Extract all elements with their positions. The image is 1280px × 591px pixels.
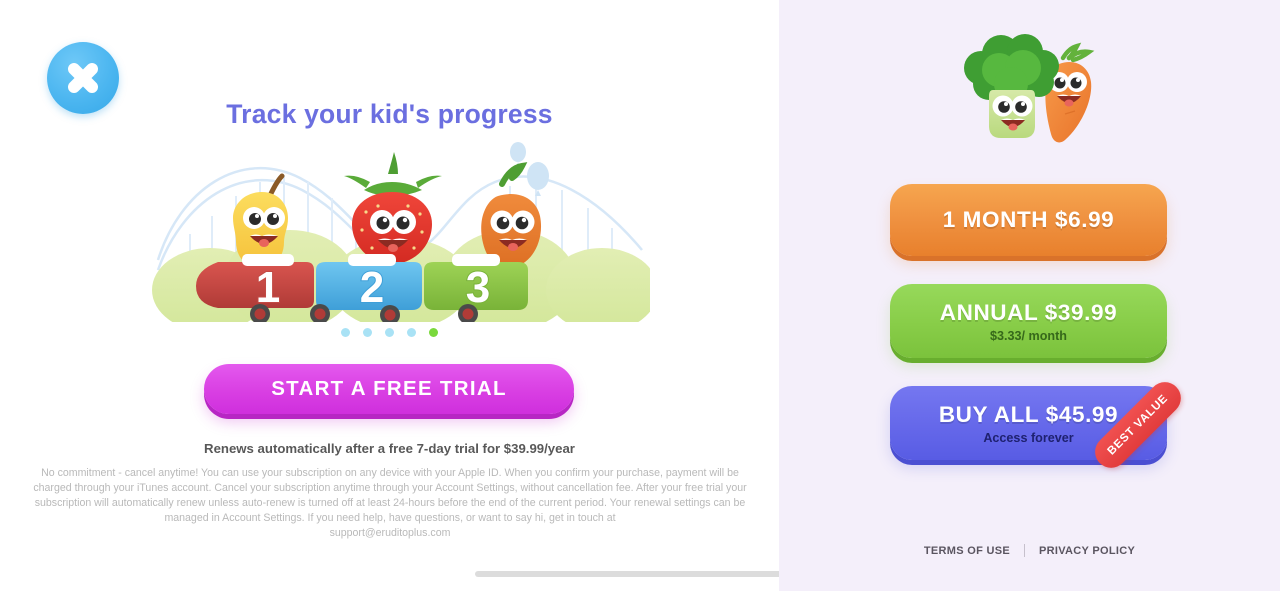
carousel-dot[interactable] bbox=[363, 328, 372, 337]
carousel-dot[interactable] bbox=[407, 328, 416, 337]
footer-divider bbox=[1024, 544, 1025, 557]
plan-buy-all-subtitle: Access forever bbox=[983, 431, 1073, 445]
carousel-dots[interactable] bbox=[0, 328, 779, 337]
carousel-dot[interactable] bbox=[341, 328, 350, 337]
privacy-policy-link[interactable]: PRIVACY POLICY bbox=[1039, 545, 1135, 557]
plan-annual-title: ANNUAL $39.99 bbox=[940, 300, 1117, 326]
page-title: Track your kid's progress bbox=[0, 99, 779, 130]
right-panel: 1 MONTH $6.99 ANNUAL $39.99 $3.33/ month… bbox=[779, 0, 1280, 591]
footer-links: TERMS OF USE PRIVACY POLICY bbox=[779, 544, 1280, 557]
broccoli-carrot-mascots bbox=[939, 24, 1119, 146]
support-email: support@eruditoplus.com bbox=[330, 527, 451, 539]
paywall-screen: Track your kid's progress bbox=[0, 0, 1280, 591]
svg-text:2: 2 bbox=[360, 263, 384, 312]
carousel-dot[interactable] bbox=[385, 328, 394, 337]
left-panel: Track your kid's progress bbox=[0, 0, 779, 591]
carousel-dot-active[interactable] bbox=[429, 328, 438, 337]
fruit-train-illustration: 1 2 3 bbox=[150, 130, 650, 322]
home-indicator bbox=[475, 571, 805, 577]
plan-buy-all-title: BUY ALL $45.99 bbox=[939, 402, 1118, 428]
legal-body: No commitment - cancel anytime! You can … bbox=[33, 467, 746, 524]
plan-annual-button[interactable]: ANNUAL $39.99 $3.33/ month bbox=[890, 284, 1167, 358]
plan-annual-subtitle: $3.33/ month bbox=[990, 329, 1067, 343]
start-free-trial-button[interactable]: START A FREE TRIAL bbox=[204, 364, 574, 414]
plan-1-month-title: 1 MONTH $6.99 bbox=[943, 207, 1115, 233]
legal-disclaimer: No commitment - cancel anytime! You can … bbox=[30, 466, 750, 541]
plan-1-month-button[interactable]: 1 MONTH $6.99 bbox=[890, 184, 1167, 256]
terms-of-use-link[interactable]: TERMS OF USE bbox=[924, 545, 1010, 557]
renewal-note: Renews automatically after a free 7-day … bbox=[0, 441, 779, 456]
